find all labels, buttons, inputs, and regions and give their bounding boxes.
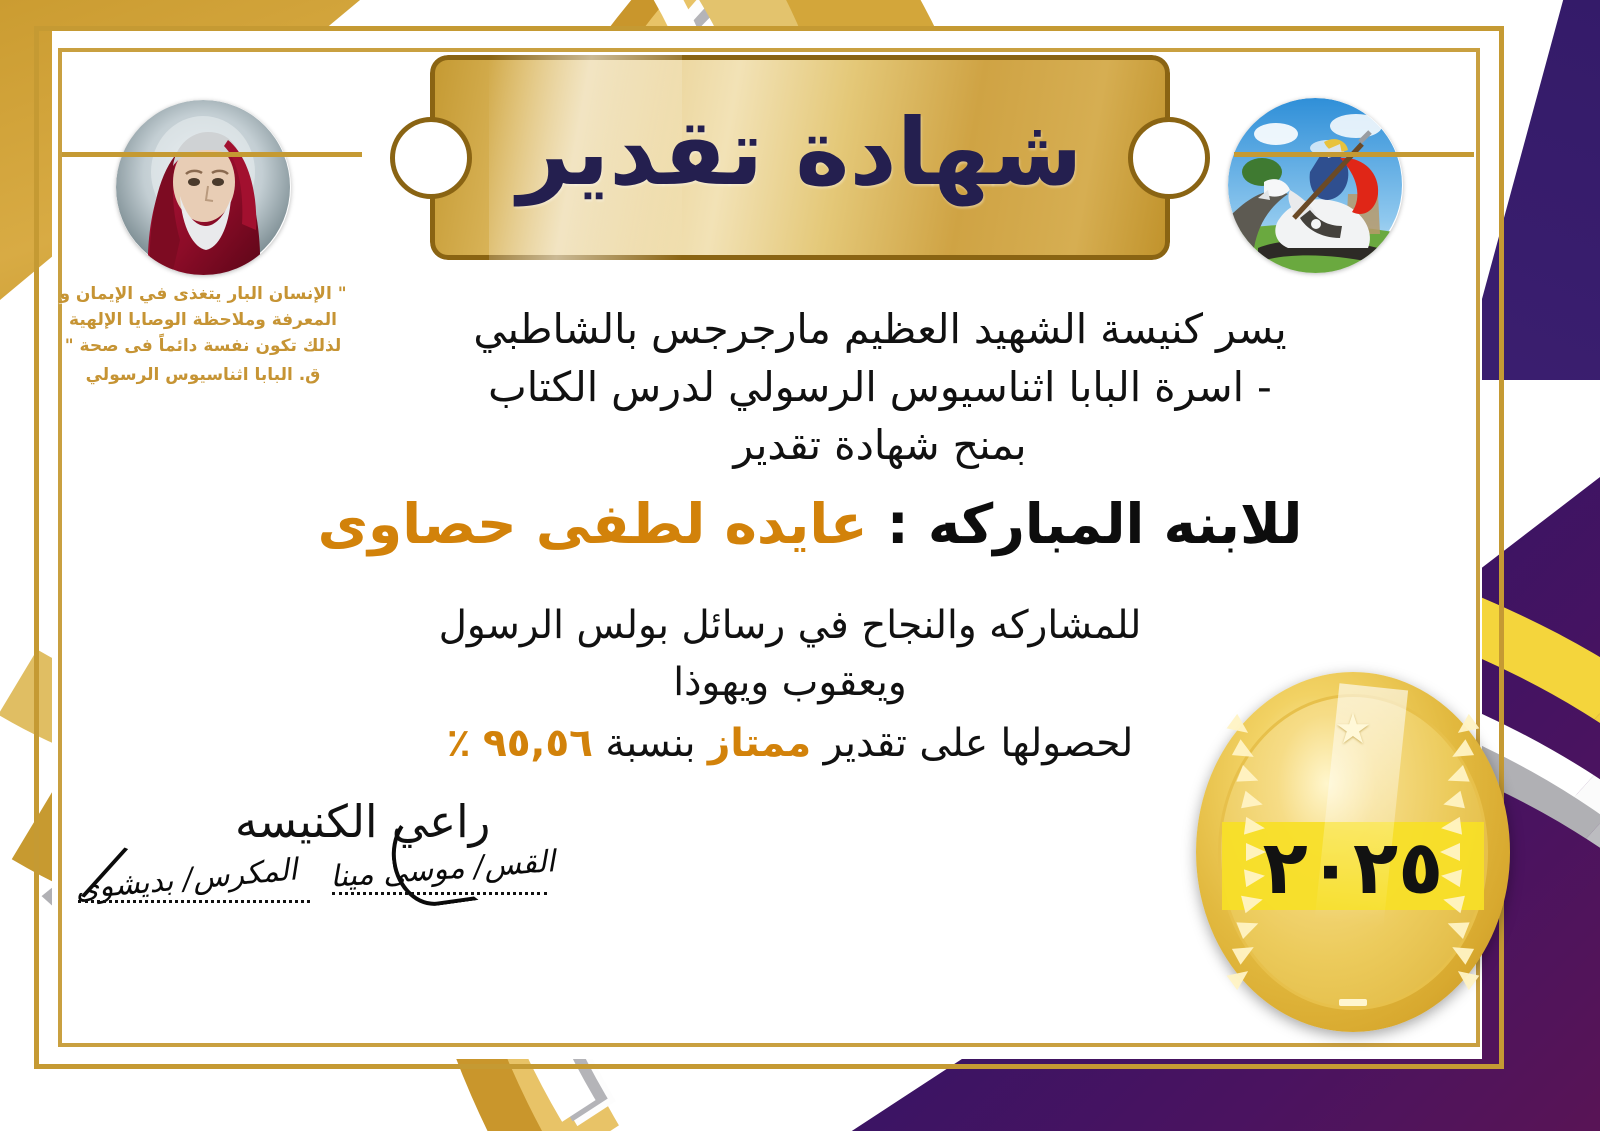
plaque-rule-right <box>1234 152 1474 157</box>
laurel-leaf <box>1453 714 1480 740</box>
laurel-leaf <box>1232 939 1258 964</box>
saint-george-portrait <box>1228 98 1403 273</box>
certificate-page: شهادة تقدير <box>0 0 1600 1131</box>
grade-prefix: لحصولها على تقدير <box>824 721 1134 766</box>
laurel-leaf <box>1448 939 1474 964</box>
body-line-1: يسر كنيسة الشهيد العظيم مارجرجس بالشاطبي <box>330 300 1430 358</box>
pope-athanasius-portrait <box>116 100 291 275</box>
title-plaque: شهادة تقدير <box>430 55 1170 260</box>
laurel-leaf <box>1441 791 1465 813</box>
certificate-title: شهادة تقدير <box>430 55 1170 260</box>
plaque-rule-left <box>62 152 362 157</box>
quote-source: ق. البابا اثناسيوس الرسولي <box>58 363 348 389</box>
star-icon: ★ <box>1334 708 1372 750</box>
medal-bottom-dash <box>1339 999 1367 1006</box>
recipient-name: عايده لطفى حصاوى <box>318 492 868 556</box>
body-line-2: - اسرة البابا اثناسيوس الرسولي لدرس الكت… <box>330 358 1430 416</box>
reason-line-2: ويعقوب ويهوذا <box>230 655 1350 712</box>
laurel-leaf <box>1448 739 1474 764</box>
recipient-line: للابنه المباركه : عايده لطفى حصاوى <box>180 492 1440 556</box>
recipient-label: للابنه المباركه : <box>887 492 1303 556</box>
laurel-leaf <box>1444 765 1469 789</box>
quote-text: " الإنسان البار يتغذى في الإيمان و المعر… <box>59 284 346 356</box>
percent-symbol: ٪ <box>447 721 471 766</box>
body-text: يسر كنيسة الشهيد العظيم مارجرجس بالشاطبي… <box>330 300 1430 475</box>
laurel-leaf <box>1444 915 1469 939</box>
grade-line: لحصولها على تقدير ممتاز بنسبة ٩٥,٥٦ ٪ <box>230 715 1350 774</box>
percent-value: ٩٥,٥٦ <box>483 721 593 766</box>
body-line-3: بمنح شهادة تقدير <box>330 416 1430 474</box>
reason-line-1: للمشاركه والنجاح في رسائل بولس الرسول <box>230 598 1350 655</box>
percent-label: بنسبة <box>605 721 695 766</box>
laurel-leaf <box>1237 915 1262 939</box>
quote-block: " الإنسان البار يتغذى في الإيمان و المعر… <box>58 282 348 389</box>
signature-dotted-line-primary <box>332 892 547 895</box>
grade-value: ممتاز <box>708 721 811 766</box>
medal-year: ٢٠٢٥ <box>1196 824 1510 912</box>
gold-medal-seal: ★ ٢٠٢٥ <box>1196 672 1510 1032</box>
certificate-content: شهادة تقدير <box>0 0 1600 1131</box>
reason-block: للمشاركه والنجاح في رسائل بولس الرسول وي… <box>230 598 1350 774</box>
laurel-leaf <box>1241 791 1265 813</box>
laurel-leaf <box>1237 765 1262 789</box>
laurel-leaf <box>1227 714 1254 740</box>
laurel-leaf <box>1232 739 1258 764</box>
